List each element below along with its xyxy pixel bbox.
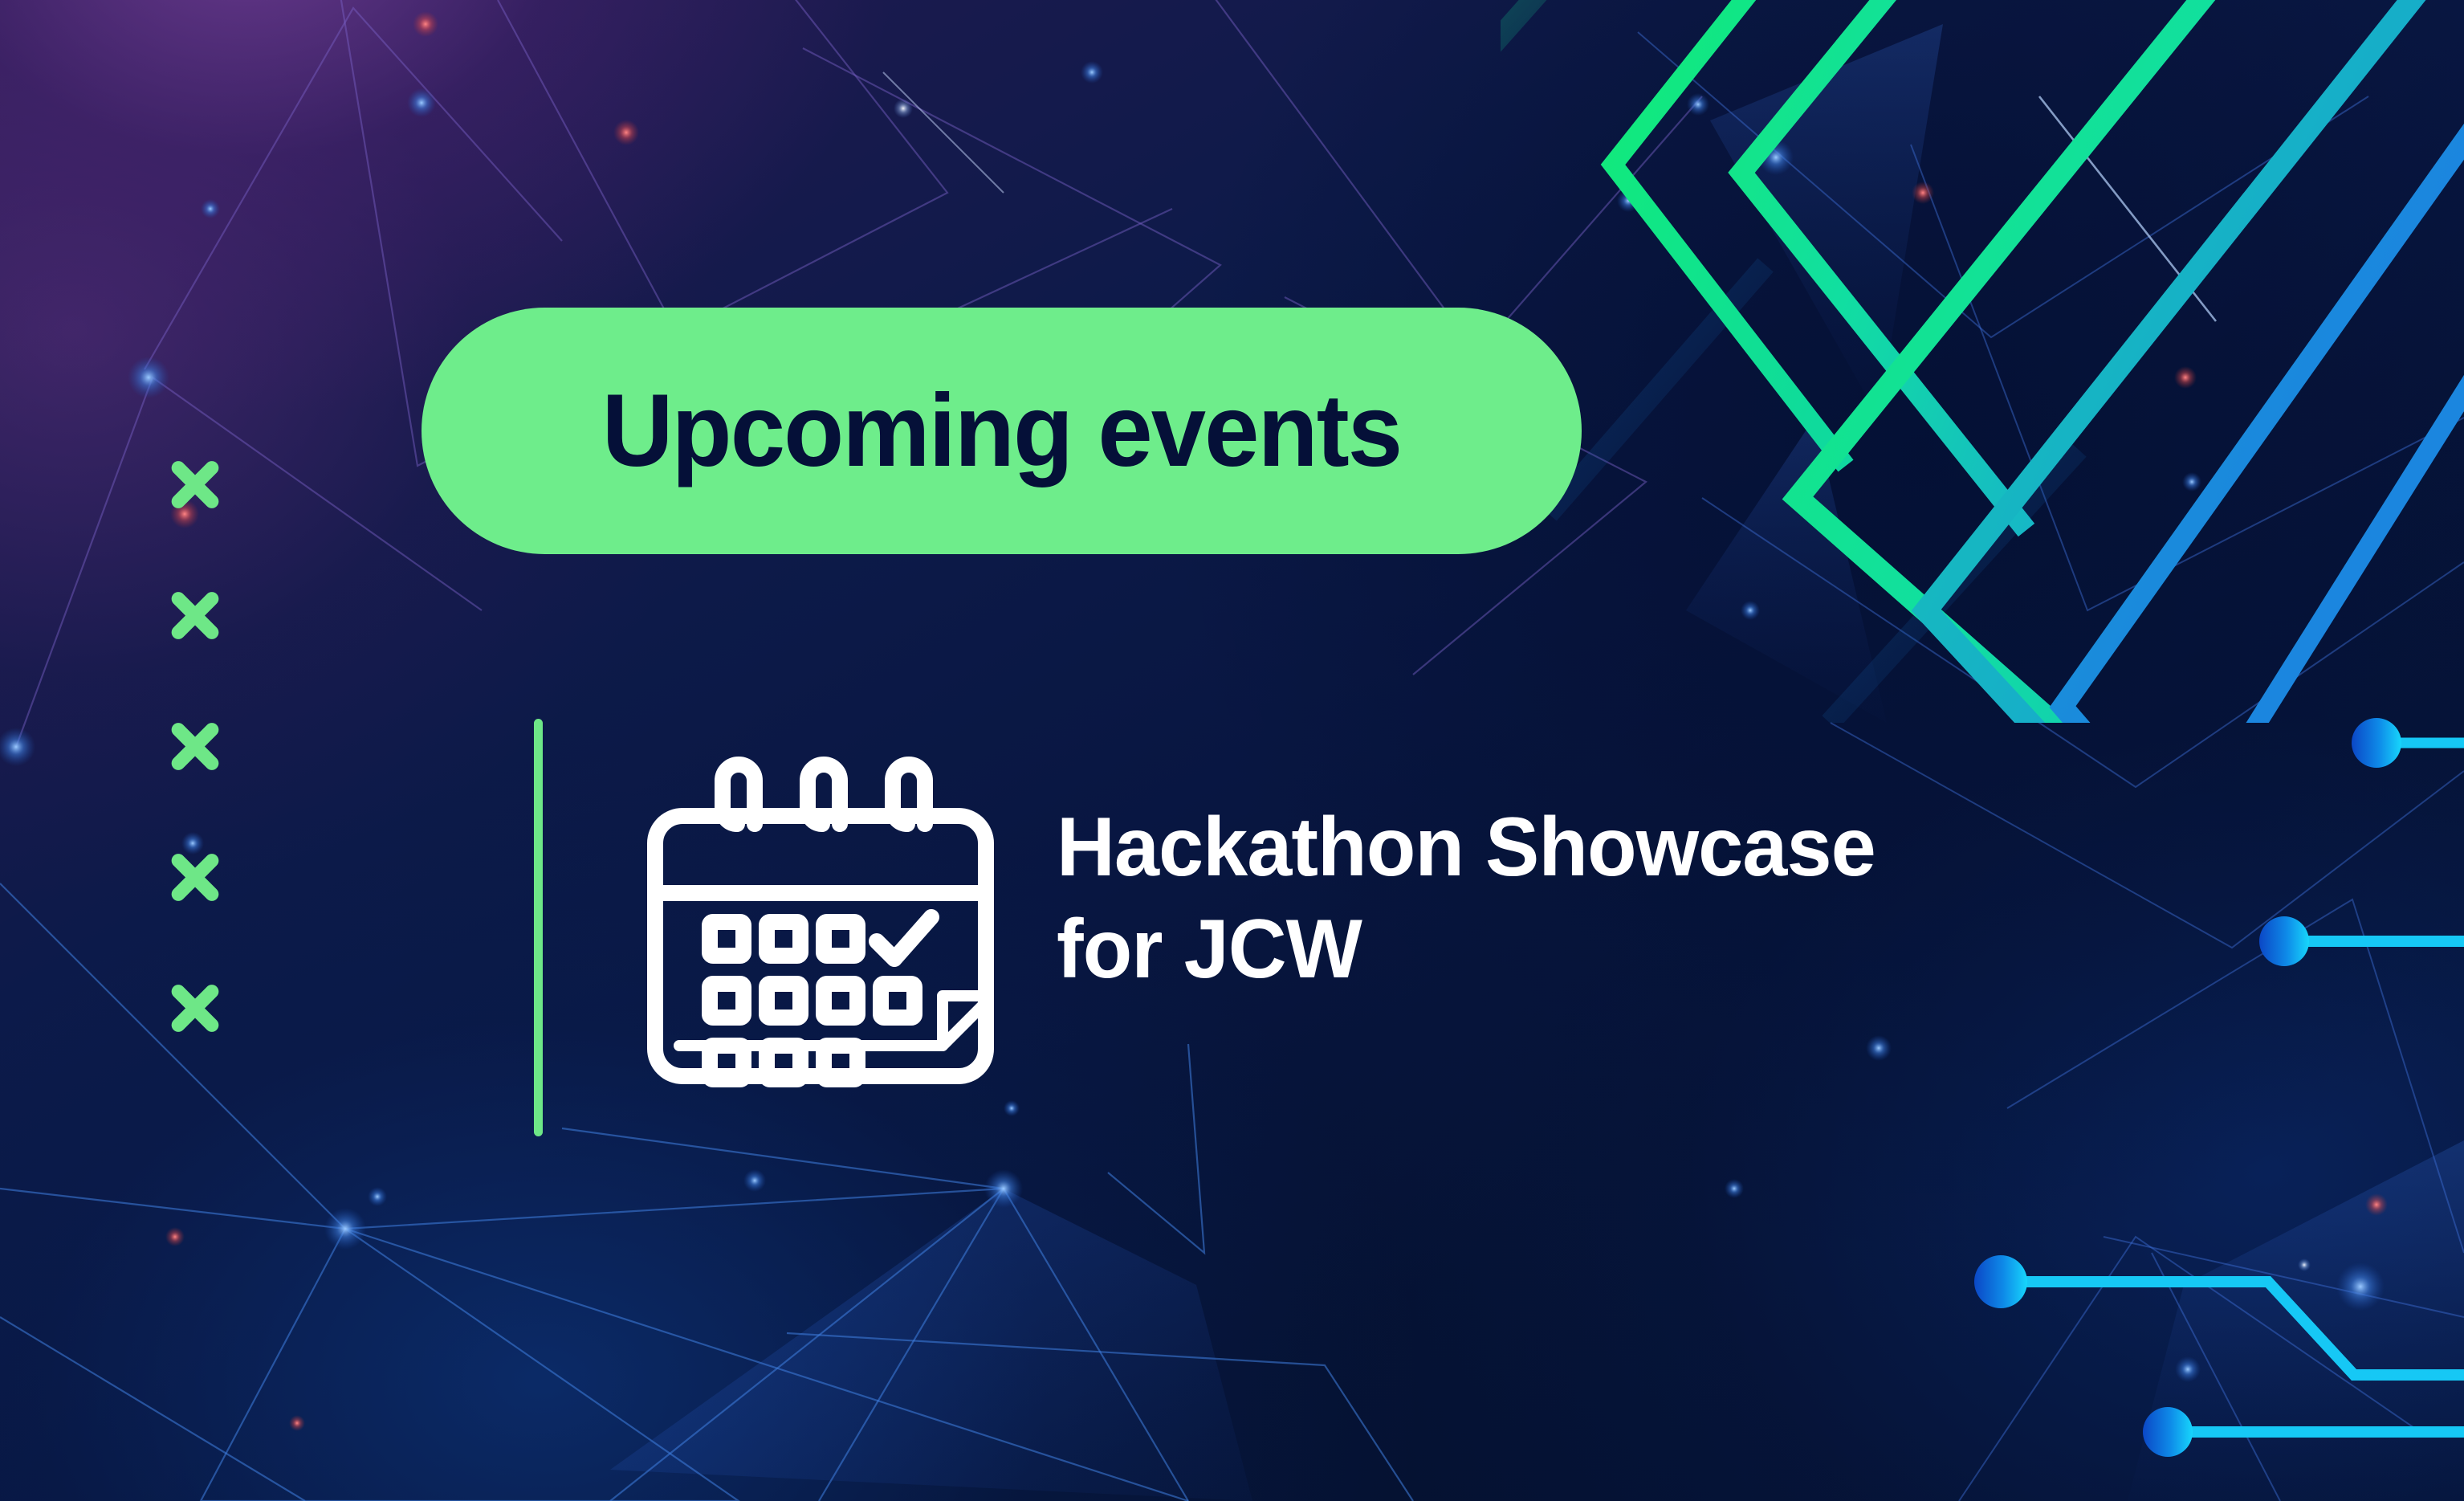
x-mark-icon [165,585,226,646]
x-mark-icon [165,846,226,908]
calendar-check-icon [633,723,1010,1120]
x-mark-icon [165,977,226,1038]
banner-canvas: Upcoming events [0,0,2464,1501]
badge-label: Upcoming events [602,380,1401,483]
accent-bar [534,719,543,1136]
event-row: Hackathon Showcase for JCW [534,715,1900,1136]
event-title: Hackathon Showcase for JCW [1057,797,1875,1001]
x-mark-icon [165,454,226,515]
x-mark-icon [165,716,226,777]
x-marks-column [165,454,245,1108]
upcoming-events-badge: Upcoming events [422,308,1582,554]
